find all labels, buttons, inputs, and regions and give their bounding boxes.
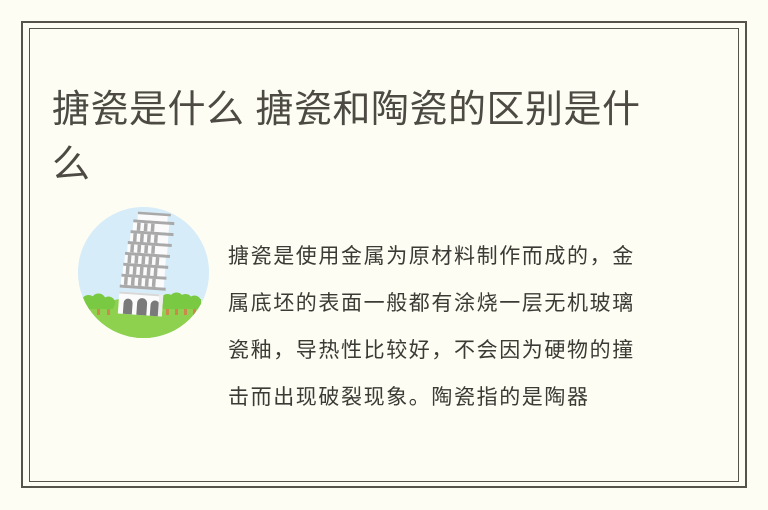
article-page: 搪瓷是什么 搪瓷和陶瓷的区别是什么	[0, 0, 768, 510]
pisa-illustration-svg	[78, 207, 209, 338]
article-body: 搪瓷是使用金属为原材料制作而成的，金属底坯的表面一般都有涂烧一层无机玻璃瓷釉，导…	[228, 233, 656, 421]
leaning-tower-of-pisa-icon	[78, 207, 209, 338]
page-title: 搪瓷是什么 搪瓷和陶瓷的区别是什么	[52, 83, 676, 193]
